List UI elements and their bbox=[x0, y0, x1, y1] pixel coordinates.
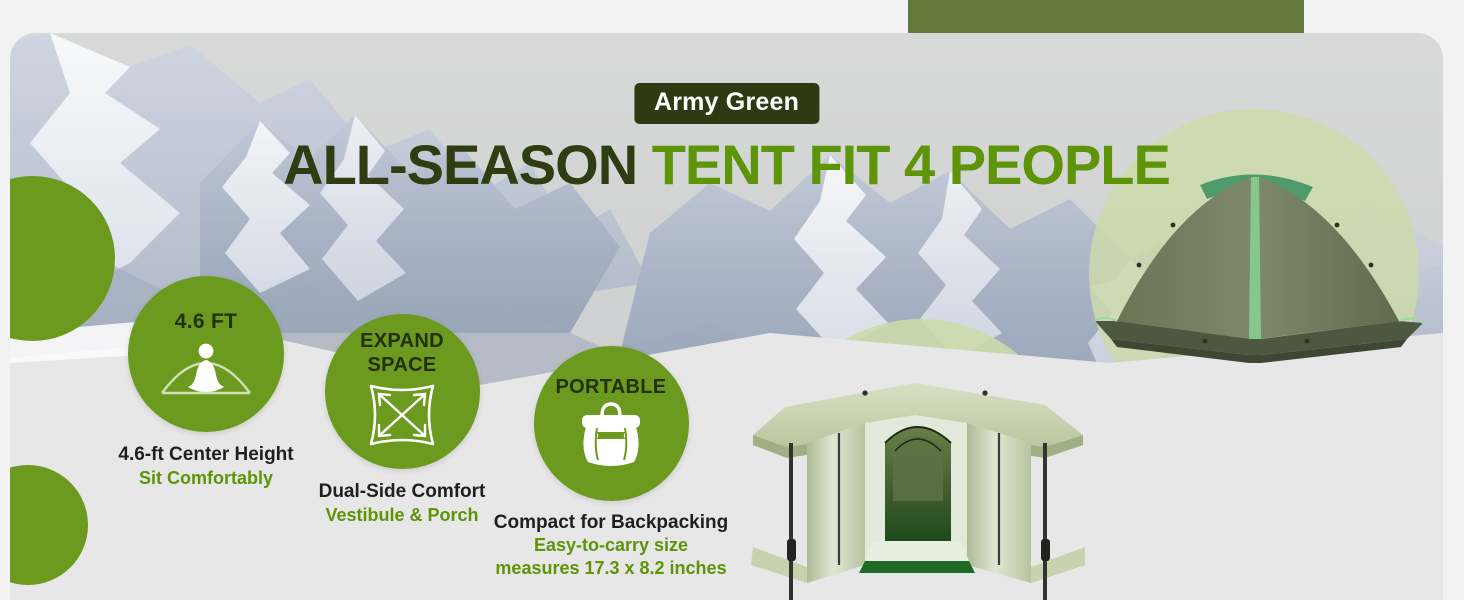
feature-badge-3: PORTABLE bbox=[534, 346, 689, 501]
person-sitting-in-tent-icon bbox=[158, 335, 254, 397]
page-title: ALL-SEASON TENT FIT 4 PEOPLE bbox=[283, 132, 1170, 197]
badge-title-2-line-1: EXPAND bbox=[360, 331, 444, 351]
carry-bag-backpack-icon bbox=[570, 400, 652, 470]
badge-title-2-line-2: SPACE bbox=[368, 355, 437, 375]
feature-subcaption-3-line-2: measures 17.3 x 8.2 inches bbox=[471, 558, 751, 580]
badge-title-1: 4.6 FT bbox=[175, 311, 237, 332]
feature-portable: PORTABLE Compact for Backpacking Easy-to… bbox=[471, 346, 751, 580]
top-accent-bar bbox=[908, 0, 1304, 36]
feature-badge-2: EXPAND SPACE bbox=[325, 314, 480, 469]
feature-caption-3: Compact for Backpacking bbox=[471, 512, 751, 534]
four-way-expand-arrows-icon bbox=[363, 378, 441, 452]
feature-badge-1: 4.6 FT bbox=[128, 276, 284, 432]
awning-tent-photo bbox=[745, 315, 1090, 600]
decorative-green-circle-lower bbox=[10, 465, 88, 585]
product-feature-banner: Army Green ALL-SEASON TENT FIT 4 PEOPLE … bbox=[0, 0, 1464, 600]
headline-part-2: TENT FIT 4 PEOPLE bbox=[652, 133, 1170, 196]
headline-part-1: ALL-SEASON bbox=[283, 133, 637, 196]
color-variant-chip: Army Green bbox=[634, 83, 819, 124]
badge-title-3: PORTABLE bbox=[556, 377, 667, 397]
banner-panel: Army Green ALL-SEASON TENT FIT 4 PEOPLE … bbox=[10, 33, 1443, 600]
feature-subcaption-3-line-1: Easy-to-carry size bbox=[471, 535, 751, 557]
